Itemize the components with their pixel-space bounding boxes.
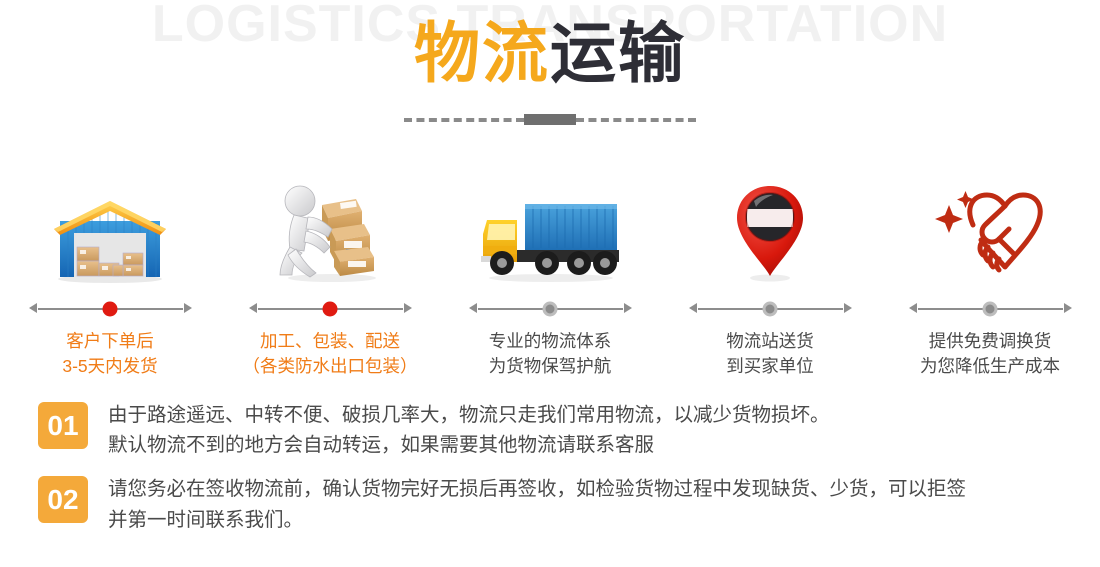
divider-dash-right (576, 118, 696, 122)
slider-arrow-left (689, 303, 697, 313)
slider-arrow-right (404, 303, 412, 313)
feature-caption: 提供免费调换货 为您降低生产成本 (920, 329, 1060, 380)
feature-item: 物流站送货 到买家单位 (660, 170, 880, 380)
page-title-rest: 运输 (550, 16, 686, 90)
note-line: 由于路途遥远、中转不便、破损几率大，物流只走我们常用物流，以减少货物损坏。 (108, 400, 830, 430)
progress-slider (908, 299, 1073, 319)
feature-row: 客户下单后 3-5天内发货 (0, 170, 1100, 380)
slider-arrow-right (1064, 303, 1072, 313)
title-divider (0, 114, 1100, 125)
slider-knob (543, 302, 558, 317)
progress-slider (468, 299, 633, 319)
note-line: 并第一时间联系我们。 (108, 505, 966, 535)
feature-item: 客户下单后 3-5天内发货 (0, 170, 220, 380)
feature-item: 提供免费调换货 为您降低生产成本 (880, 170, 1100, 380)
feature-caption: 客户下单后 3-5天内发货 (62, 329, 157, 380)
slider-arrow-left (29, 303, 37, 313)
feature-caption: 专业的物流体系 为货物保驾护航 (489, 329, 612, 380)
slider-arrow-left (249, 303, 257, 313)
feature-caption-line: 加工、包装、配送 (243, 329, 418, 354)
note-text: 由于路途遥远、中转不便、破损几率大，物流只走我们常用物流，以减少货物损坏。 默认… (108, 400, 830, 460)
feature-caption-line: 物流站送货 (726, 329, 814, 354)
feature-caption-line: 到买家单位 (726, 354, 814, 379)
slider-arrow-right (624, 303, 632, 313)
feature-caption-line: 为货物保驾护航 (489, 354, 612, 379)
logistics-transportation-banner: LOGISTICS TRANSPORTATION 物流运输 (0, 0, 1100, 567)
feature-caption-line: 专业的物流体系 (489, 329, 612, 354)
note-item: 02 请您务必在签收物流前，确认货物完好无损后再签收，如检验货物过程中发现缺货、… (38, 474, 1068, 534)
progress-slider (248, 299, 413, 319)
feature-item: 专业的物流体系 为货物保驾护航 (440, 170, 660, 380)
feature-caption-line: 客户下单后 (62, 329, 157, 354)
slider-arrow-left (469, 303, 477, 313)
divider-dash-left (404, 118, 524, 122)
note-line: 默认物流不到的地方会自动转运，如果需要其他物流请联系客服 (108, 430, 830, 460)
feature-caption: 加工、包装、配送 （各类防水出口包装） (243, 329, 418, 380)
feature-caption-line: 为您降低生产成本 (920, 354, 1060, 379)
warehouse-icon (0, 170, 220, 285)
slider-arrow-right (184, 303, 192, 313)
handshake-heart-icon (880, 170, 1100, 285)
feature-caption-line: （各类防水出口包装） (243, 354, 418, 379)
progress-slider (28, 299, 193, 319)
progress-slider (688, 299, 853, 319)
slider-knob (103, 302, 118, 317)
note-number-badge: 01 (38, 402, 88, 449)
note-number-badge: 02 (38, 476, 88, 523)
feature-caption: 物流站送货 到买家单位 (726, 329, 814, 380)
slider-knob (323, 302, 338, 317)
map-pin-icon (660, 170, 880, 285)
divider-block (524, 114, 576, 125)
slider-knob (983, 302, 998, 317)
note-line: 请您务必在签收物流前，确认货物完好无损后再签收，如检验货物过程中发现缺货、少货，… (108, 474, 966, 504)
feature-item: 加工、包装、配送 （各类防水出口包装） (220, 170, 440, 380)
slider-knob (763, 302, 778, 317)
page-title: 物流运输 (0, 20, 1100, 86)
worker-pushing-boxes-icon (220, 170, 440, 285)
note-text: 请您务必在签收物流前，确认货物完好无损后再签收，如检验货物过程中发现缺货、少货，… (108, 474, 966, 534)
feature-caption-line: 提供免费调换货 (920, 329, 1060, 354)
slider-arrow-right (844, 303, 852, 313)
notes-list: 01 由于路途遥远、中转不便、破损几率大，物流只走我们常用物流，以减少货物损坏。… (38, 400, 1068, 549)
note-item: 01 由于路途遥远、中转不便、破损几率大，物流只走我们常用物流，以减少货物损坏。… (38, 400, 1068, 460)
feature-caption-line: 3-5天内发货 (62, 354, 157, 379)
page-title-highlight: 物流 (414, 16, 550, 90)
slider-arrow-left (909, 303, 917, 313)
container-truck-icon (440, 170, 660, 285)
